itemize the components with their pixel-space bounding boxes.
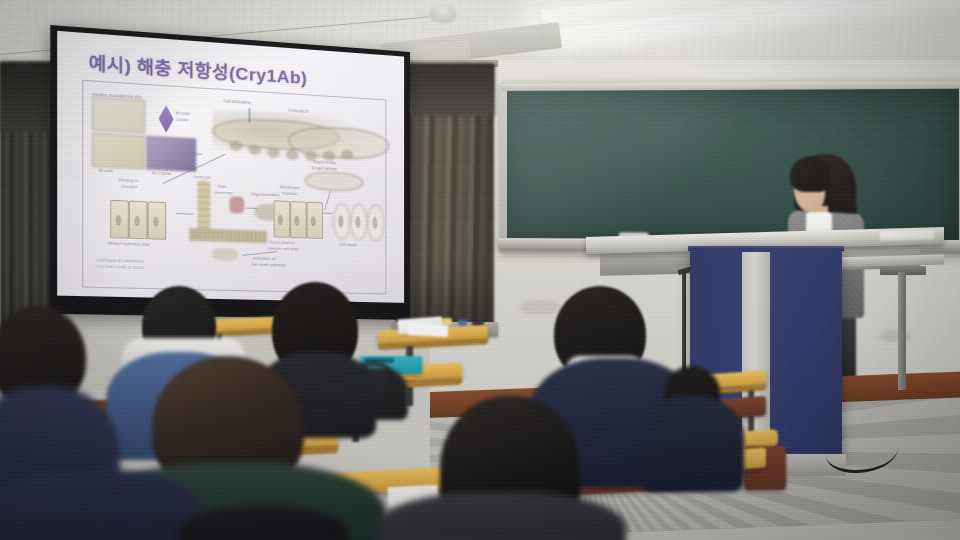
apoptosis-blob <box>212 248 237 261</box>
micrograph-bt-cells <box>92 96 145 133</box>
lecture-hall-photo: 예시) 해충 저항성(Cry1Ab) Bacillus thuringiensi… <box>0 0 960 540</box>
papers-on-desk <box>408 323 449 337</box>
chalkboard-sheen <box>507 88 959 242</box>
student-bottom-left-body <box>0 470 200 540</box>
bt-toxin-crystal-icon <box>159 105 174 133</box>
student-far-right-body <box>640 396 744 492</box>
cell-membrane <box>189 228 267 243</box>
micrograph-bt-crystals <box>92 133 145 170</box>
podium-stripe <box>742 252 770 456</box>
smoke-detector-icon <box>430 5 456 21</box>
lectern-leg <box>898 272 906 390</box>
presenter-hair-front <box>790 156 830 192</box>
slide-diagram-frame: Bacillus thuringiensis (Bt) Bt cells Bt … <box>82 80 386 295</box>
toxin-fragment <box>229 196 244 213</box>
curtain-window-header <box>396 64 494 116</box>
projection-screen-surface: 예시) 해충 저항성(Cry1Ab) Bacillus thuringiensi… <box>57 31 404 303</box>
projection-screen: 예시) 해충 저항성(Cry1Ab) Bacillus thuringiensi… <box>50 25 410 320</box>
larva-illustration <box>212 108 387 167</box>
dead-larva-illustration <box>305 171 364 192</box>
sill-object <box>458 320 467 326</box>
presentation-papers <box>880 230 934 241</box>
wall-mark <box>520 300 560 314</box>
toxin-monomer <box>197 180 210 233</box>
